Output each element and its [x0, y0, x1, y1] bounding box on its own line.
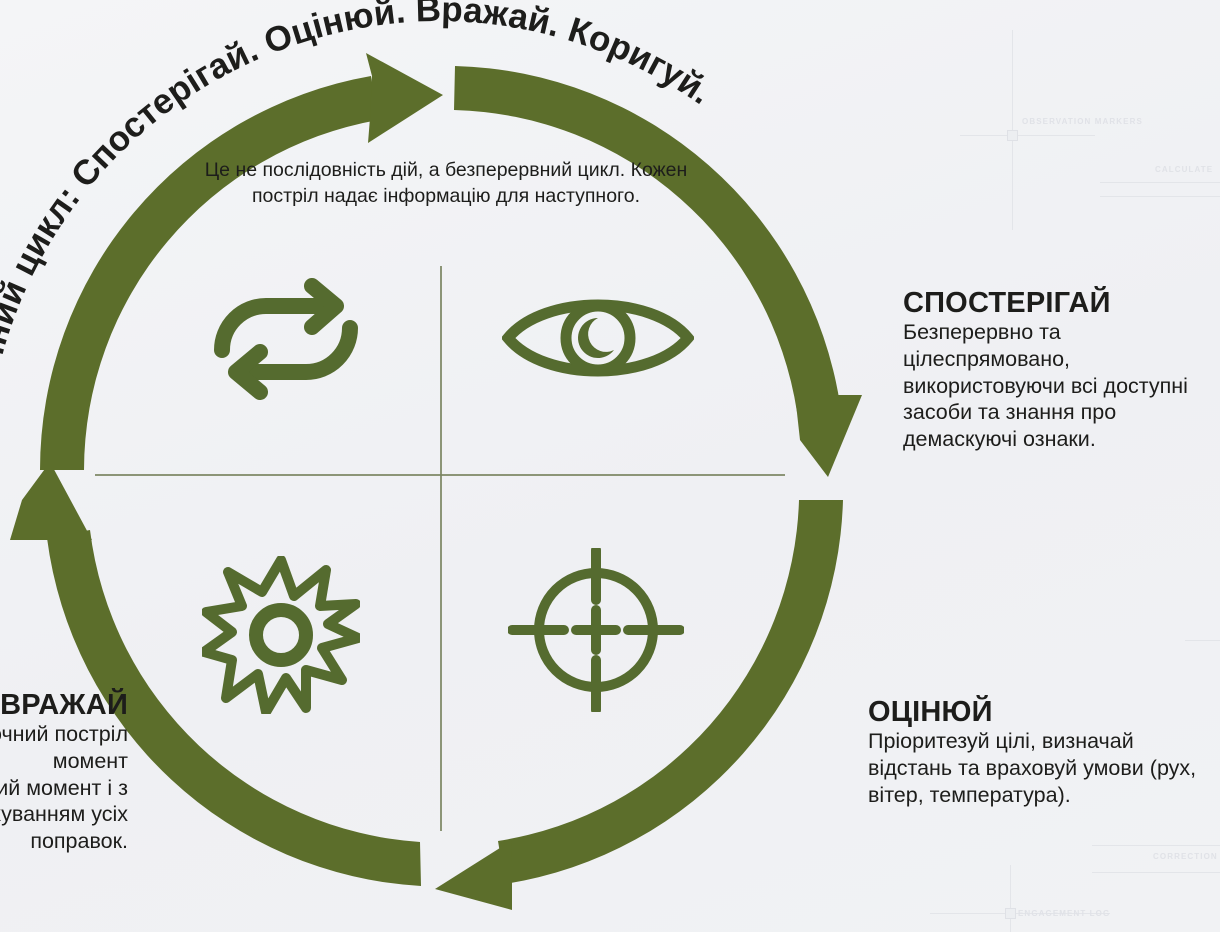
block-act: ВРАЖАЙ Здійснюй точний постріл момент у …: [0, 690, 128, 855]
block-observe-body: Безперервно та цілеспрямовано, використо…: [903, 319, 1220, 452]
quadrant-divider-vertical: [440, 266, 442, 831]
block-orient-title: ОЦІНЮЙ: [868, 697, 1220, 727]
block-observe-title: СПОСТЕРІГАЙ: [903, 288, 1220, 318]
refresh-cycle-icon: [200, 278, 372, 405]
block-orient: ОЦІНЮЙ Пріоритезуй цілі, визначай відста…: [868, 697, 1220, 808]
eye-icon: [502, 288, 694, 393]
infographic-canvas: OBSERVATION MARKERS CALCULATE CORRECTION…: [0, 0, 1220, 932]
block-orient-body: Пріоритезуй цілі, визначай відстань та в…: [868, 728, 1220, 808]
arc-arrow-right-head: [795, 395, 862, 477]
arc-arrow-top-head: [366, 53, 443, 143]
block-act-body: Здійснюй точний постріл момент у сприятл…: [0, 721, 128, 854]
center-note: Це не послідовність дій, а безперервний …: [196, 158, 696, 210]
impact-burst-icon: [202, 556, 360, 719]
crosshair-icon: [508, 548, 684, 717]
arc-arrow-left-head: [10, 462, 92, 540]
arc-top-body: [40, 76, 378, 470]
arc-arrow-bottom-head: [435, 841, 512, 910]
block-observe: СПОСТЕРІГАЙ Безперервно та цілеспрямован…: [903, 288, 1220, 453]
block-act-title: ВРАЖАЙ: [0, 690, 128, 720]
